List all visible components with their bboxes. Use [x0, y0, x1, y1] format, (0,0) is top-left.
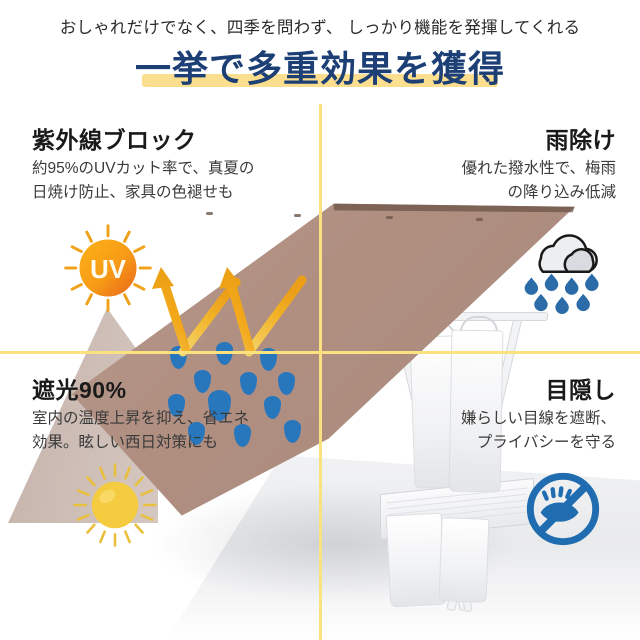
water-droplet — [240, 372, 257, 395]
hanging-laundry-item — [439, 517, 490, 603]
raindrop-group — [525, 274, 599, 314]
quadrant-divider-horizontal — [0, 351, 640, 354]
tarp-grommet — [294, 214, 301, 217]
sun-icon — [72, 462, 158, 548]
feature-title-rain-shield: 雨除け — [546, 121, 617, 155]
feature-title-blackout: 遮光90% — [32, 371, 127, 405]
uv-icon: UV — [62, 222, 154, 314]
feature-title-privacy: 目隠し — [546, 371, 617, 405]
tarp-grommet — [206, 212, 213, 215]
feature-body-uv-block: 約95%のUVカット率で、真夏の 日焼け防止、家具の色褪せも — [32, 157, 254, 206]
water-droplet — [278, 372, 295, 395]
tarp-grommet — [386, 216, 393, 219]
quadrant-divider-vertical — [319, 104, 322, 640]
feature-body-rain-shield: 優れた撥水性で、梅雨 の降り込み低減 — [462, 157, 616, 206]
hanging-laundry-item — [386, 513, 447, 608]
infographic-page: おしゃれだけでなく、四季を問わず、 しっかり機能を発揮してくれる 一挙で多重効果… — [0, 0, 640, 640]
arrow-reflect-2 — [219, 267, 250, 350]
no-eye-privacy-icon — [520, 466, 606, 552]
feature-title-uv-block: 紫外線ブロック — [32, 121, 197, 155]
feature-body-blackout: 室内の温度上昇を抑え、省エネ 効果。眩しい西日対策にも — [32, 407, 249, 456]
lead-subtitle: おしゃれだけでなく、四季を問わず、 しっかり機能を発揮してくれる — [0, 14, 640, 38]
tarp-grommet — [476, 218, 483, 221]
rain-cloud-icon — [516, 218, 612, 314]
cloud-shape — [540, 235, 597, 271]
water-droplet — [264, 396, 281, 419]
page-title: 一挙で多重効果を獲得 — [129, 50, 511, 88]
feature-body-privacy: 嫌らしい目線を遮断、 プライバシーを守る — [461, 407, 616, 456]
arrow-reflect-1 — [152, 267, 186, 350]
headline-container: 一挙で多重効果を獲得 — [0, 50, 640, 88]
water-droplet — [284, 420, 301, 443]
uv-icon-label: UV — [90, 256, 126, 284]
